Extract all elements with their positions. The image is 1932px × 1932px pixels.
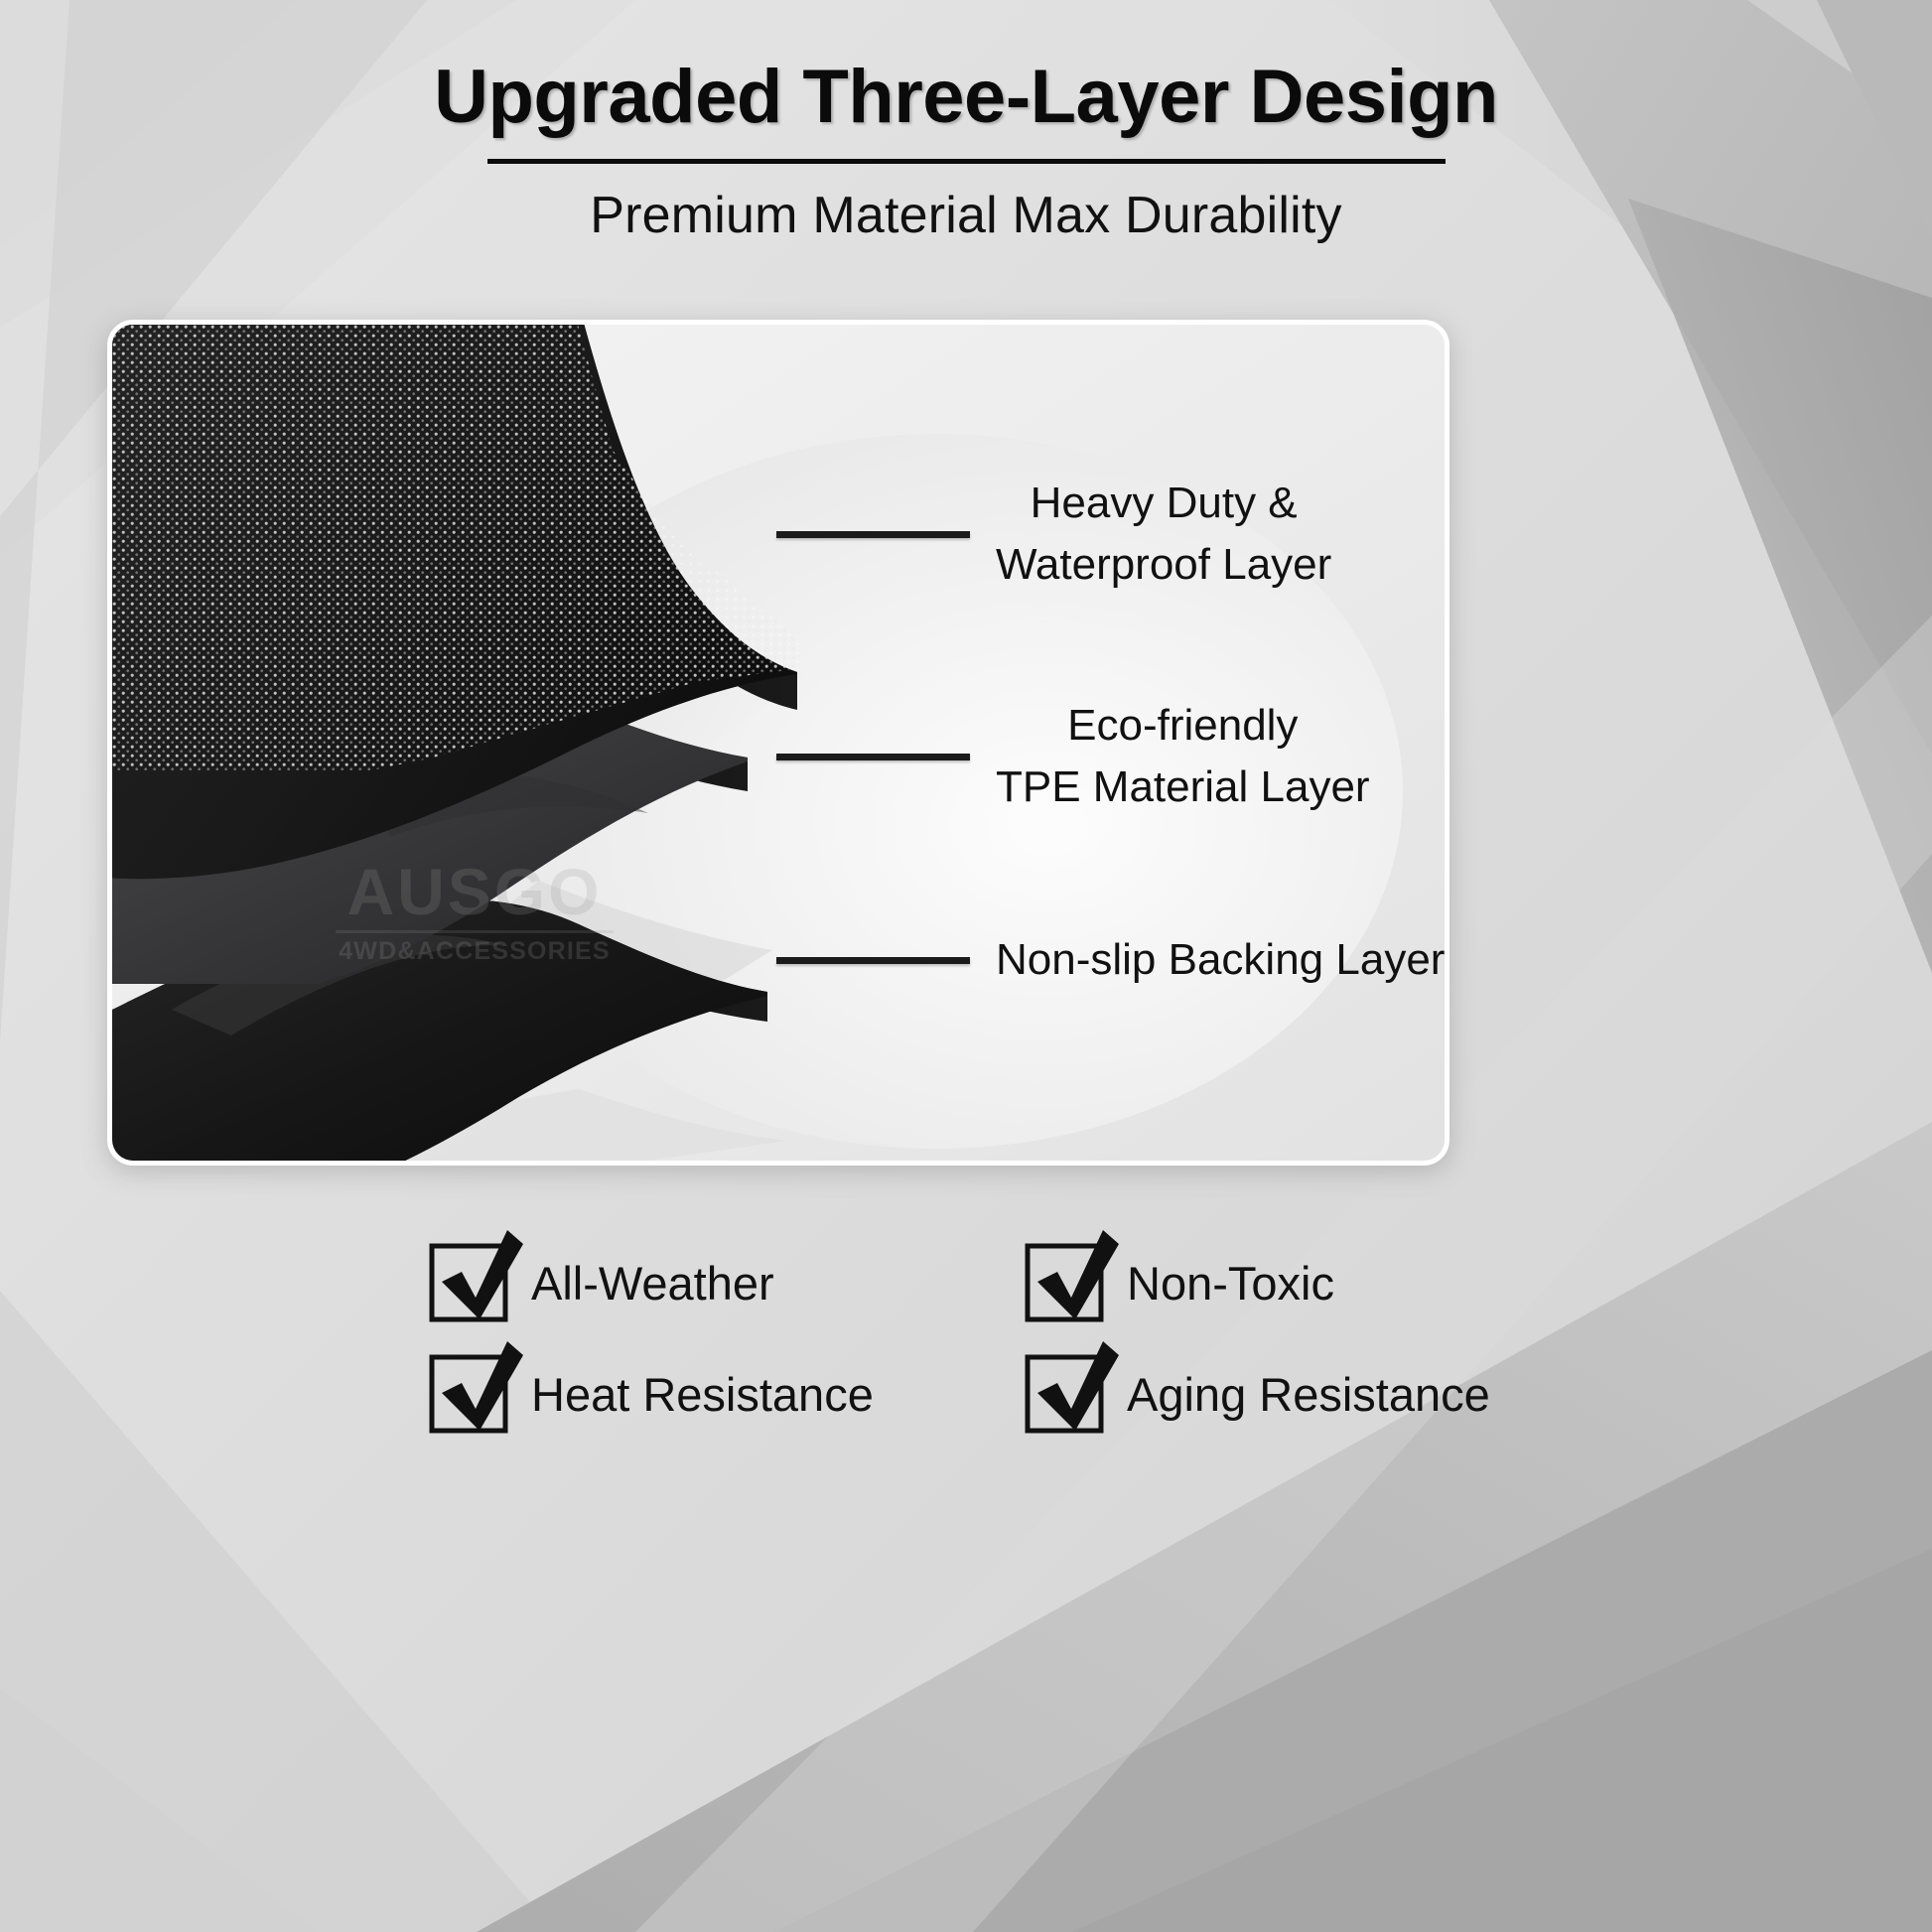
callout-line-2: Waterproof Layer [996, 534, 1331, 596]
feature-all-weather: All-Weather [370, 1246, 966, 1319]
callout-text: Non-slip Backing Layer [996, 929, 1445, 991]
callout-line-1: Heavy Duty & [1031, 479, 1298, 527]
callout-line-1: Non-slip Backing Layer [996, 935, 1445, 984]
checkbox-checked-glyph [1014, 1226, 1123, 1331]
checkbox-checked-icon [432, 1357, 505, 1431]
feature-non-toxic: Non-Toxic [966, 1246, 1562, 1319]
checkbox-checked-icon [1028, 1246, 1101, 1319]
checkbox-checked-glyph [418, 1226, 527, 1331]
callout-non-slip-backing-layer: Non-slip Backing Layer [776, 929, 1445, 991]
product-infographic: Upgraded Three-Layer Design Premium Mate… [0, 0, 1932, 1932]
callout-heavy-duty-waterproof-layer: Heavy Duty & Waterproof Layer [776, 473, 1331, 597]
header: Upgraded Three-Layer Design Premium Mate… [0, 58, 1932, 245]
checkbox-checked-glyph [418, 1337, 527, 1443]
leader-line [776, 531, 970, 538]
title-divider [487, 159, 1446, 164]
feature-label: Aging Resistance [1127, 1371, 1490, 1418]
feature-aging-resistance: Aging Resistance [966, 1357, 1562, 1431]
feature-checklist: All-Weather Non-Toxic Heat Resistance [0, 1246, 1932, 1431]
callout-eco-friendly-tpe-material-layer: Eco-friendly TPE Material Layer [776, 695, 1370, 819]
feature-label: All-Weather [531, 1260, 774, 1307]
feature-label: Heat Resistance [531, 1371, 874, 1418]
page-subtitle: Premium Material Max Durability [0, 186, 1932, 245]
page-title: Upgraded Three-Layer Design [0, 58, 1932, 137]
callout-line-1: Eco-friendly [1067, 701, 1298, 750]
checkbox-checked-glyph [1014, 1337, 1123, 1443]
leader-line [776, 957, 970, 964]
feature-heat-resistance: Heat Resistance [370, 1357, 966, 1431]
callout-line-2: TPE Material Layer [996, 757, 1370, 818]
feature-label: Non-Toxic [1127, 1260, 1334, 1307]
callout-text: Eco-friendly TPE Material Layer [996, 695, 1370, 819]
checkbox-checked-icon [432, 1246, 505, 1319]
callout-text: Heavy Duty & Waterproof Layer [996, 473, 1331, 597]
checkbox-checked-icon [1028, 1357, 1101, 1431]
leader-line [776, 754, 970, 760]
